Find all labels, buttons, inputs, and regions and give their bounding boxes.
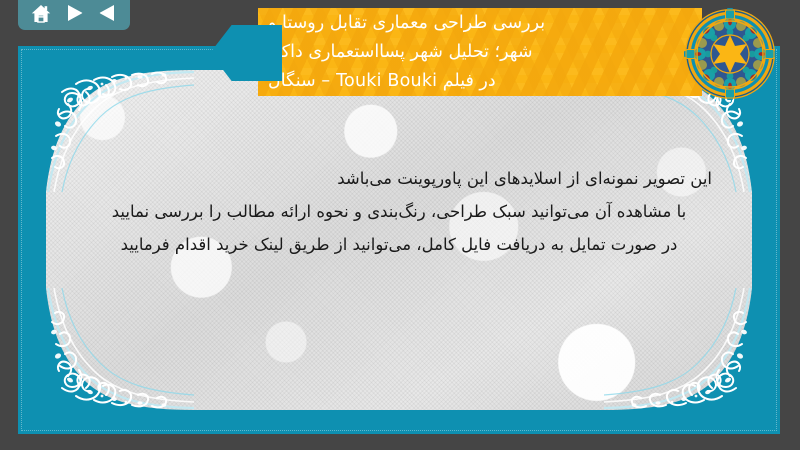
triangle-left-icon [99, 4, 116, 22]
title-line-1: بررسی طراحی معماری تقابل روستا و [268, 9, 545, 38]
triangle-right-icon [66, 4, 83, 22]
title-line-3: در فیلم Touki Bouki – سنگال [268, 67, 496, 96]
forward-button[interactable] [61, 1, 87, 25]
home-icon [31, 4, 51, 23]
body-line-2: با مشاهده آن می‌توانید سبک طراحی، رنگ‌بن… [86, 195, 712, 228]
title-line-2: شهر؛ تحلیل شهر پسااستعماری داکار [268, 38, 533, 67]
slide-body-text: این تصویر نمونه‌ای از اسلایدهای این پاور… [86, 162, 712, 261]
slide-page: این تصویر نمونه‌ای از اسلایدهای این پاور… [46, 70, 752, 410]
slide-title: بررسی طراحی معماری تقابل روستا و شهر؛ تح… [258, 8, 702, 96]
corner-ornament-bottom-left [46, 288, 194, 410]
slide-frame: این تصویر نمونه‌ای از اسلایدهای این پاور… [18, 46, 780, 434]
mandala-ornament [684, 8, 776, 100]
body-line-3: در صورت تمایل به دریافت فایل کامل، می‌تو… [86, 228, 712, 261]
navigation-bar [18, 0, 130, 30]
home-button[interactable] [28, 1, 54, 25]
slide-viewer-window: این تصویر نمونه‌ای از اسلایدهای این پاور… [0, 0, 800, 450]
corner-ornament-bottom-right [604, 288, 752, 410]
back-button[interactable] [94, 1, 120, 25]
body-line-1: این تصویر نمونه‌ای از اسلایدهای این پاور… [86, 162, 712, 195]
title-banner: بررسی طراحی معماری تقابل روستا و شهر؛ تح… [258, 8, 702, 96]
